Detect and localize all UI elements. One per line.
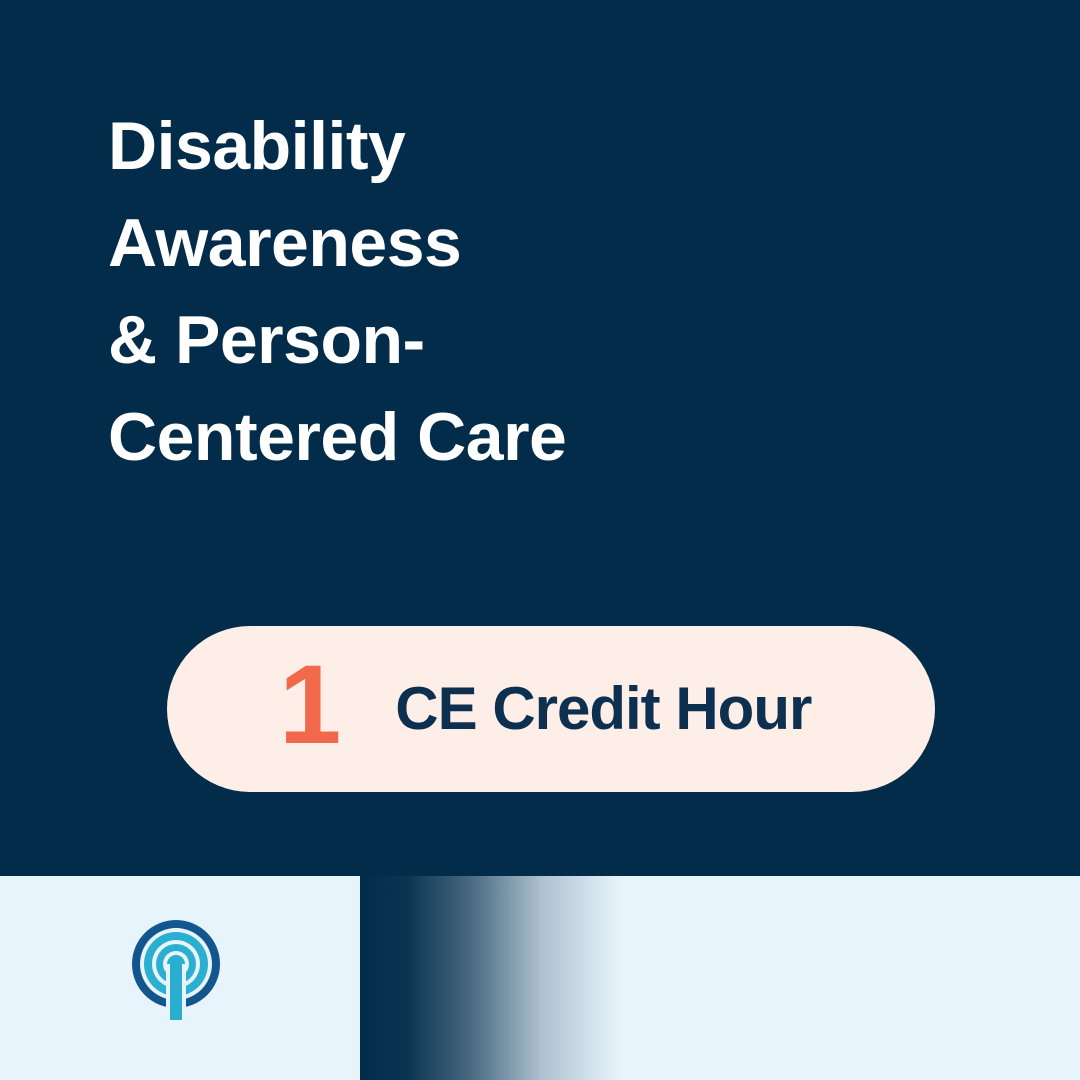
ce-credit-badge: 1 CE Credit Hour [167,626,935,792]
concentric-signal-logo-icon [118,912,234,1028]
page-title: Disability Awareness & Person- Centered … [108,98,566,486]
ce-credit-number: 1 [279,649,339,761]
ce-credit-label: CE Credit Hour [395,679,811,739]
promo-card: Disability Awareness & Person- Centered … [0,0,1080,1080]
